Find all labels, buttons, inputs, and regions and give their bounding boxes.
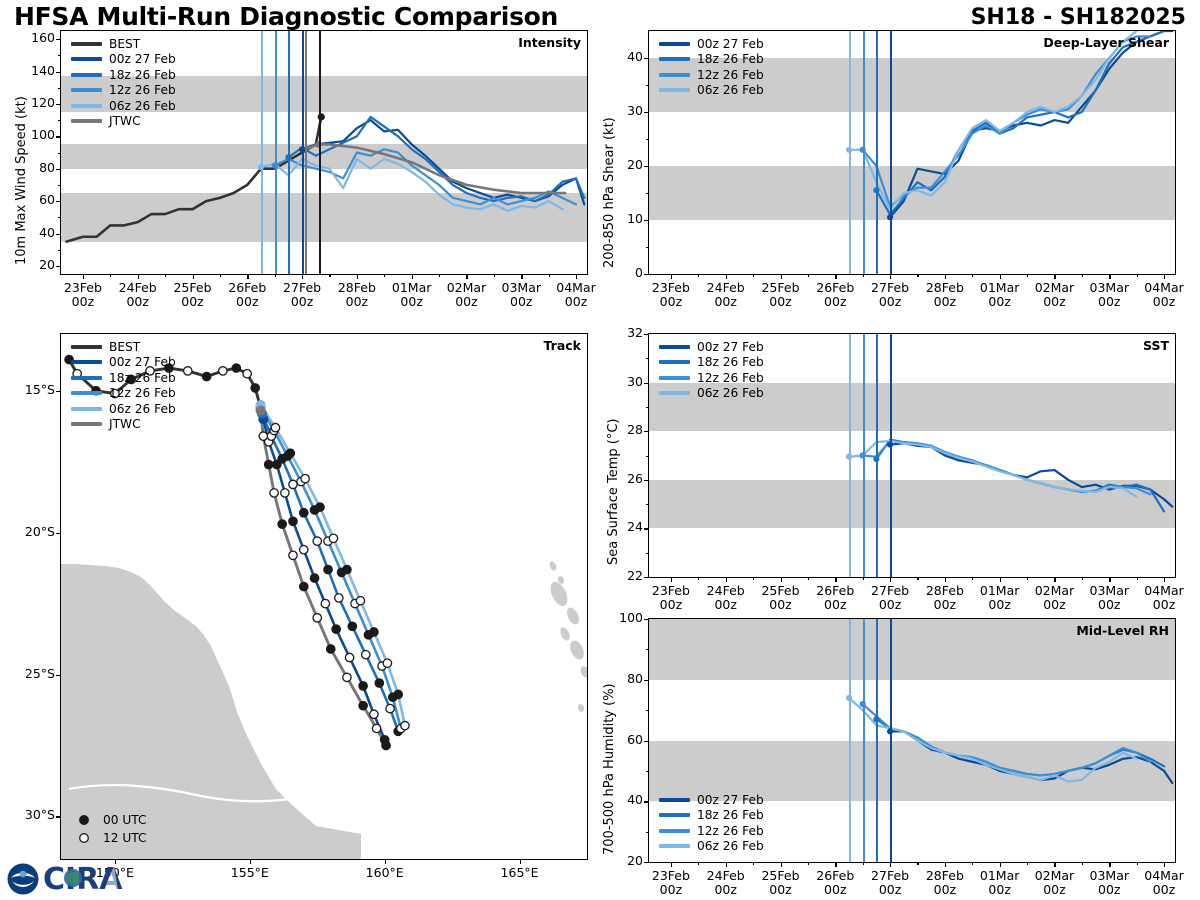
- track-marker-12utc: [184, 367, 192, 375]
- track-marker-00utc: [202, 372, 210, 380]
- track-marker-12utc: [356, 597, 364, 605]
- sst-legend-item: 06z 26 Feb: [659, 386, 764, 402]
- x-minor-tick: [863, 274, 864, 277]
- y-minor-tick: [646, 504, 649, 505]
- y-tick-mark: [56, 72, 61, 73]
- y-tick-label: 30: [603, 103, 643, 118]
- legend-color-swatch: [659, 345, 690, 349]
- sst-panel: SST 00z 27 Feb18z 26 Feb12z 26 Feb06z 26…: [648, 333, 1176, 578]
- x-minor-tick: [917, 577, 918, 580]
- marker-open-icon: [73, 831, 103, 845]
- y-minor-tick: [646, 832, 649, 833]
- y-tick-label: 20: [603, 853, 643, 868]
- track-marker-00utc: [289, 517, 297, 525]
- legend-color-swatch: [659, 376, 690, 380]
- y-minor-tick: [646, 139, 649, 140]
- track-marker-00utc: [278, 520, 286, 528]
- x-minor-tick: [863, 577, 864, 580]
- legend-label: 06z 26 Feb: [109, 402, 176, 416]
- series-line: [288, 117, 584, 201]
- track-marker-12utc: [362, 650, 370, 658]
- y-tick-label: 160: [15, 30, 55, 45]
- track-marker-12utc: [335, 594, 343, 602]
- y-tick-mark: [644, 431, 649, 432]
- init-time-line: [288, 31, 290, 274]
- noaa-logo: [6, 862, 40, 896]
- x-tick-mark: [671, 862, 672, 867]
- legend-label: 06z 26 Feb: [697, 839, 764, 853]
- x-tick-mark: [945, 274, 946, 279]
- x-tick-mark: [835, 274, 836, 279]
- x-tick-mark: [1109, 862, 1110, 867]
- y-tick-mark: [644, 862, 649, 863]
- x-tick-day: 04Mar: [1130, 584, 1198, 598]
- track-marker-00utc: [310, 574, 318, 582]
- y-tick-label: 32: [603, 325, 643, 340]
- x-minor-tick: [808, 577, 809, 580]
- init-time-line: [863, 31, 865, 274]
- track-marker-12utc: [219, 367, 227, 375]
- y-tick-mark: [644, 741, 649, 742]
- x-tick-mark: [247, 274, 248, 279]
- track-marker-00utc: [265, 460, 273, 468]
- x-minor-tick: [698, 577, 699, 580]
- init-time-line: [319, 31, 321, 274]
- track-legend-item: 18z 26 Feb: [71, 370, 176, 386]
- y-tick-mark: [56, 391, 61, 392]
- x-tick-hour: 00z: [1130, 295, 1198, 309]
- legend-label: 00z 27 Feb: [109, 52, 176, 66]
- y-tick-label: 100: [603, 610, 643, 625]
- intensity-legend-item: JTWC: [71, 114, 176, 130]
- y-tick-mark: [644, 383, 649, 384]
- y-tick-mark: [56, 816, 61, 817]
- legend-label: 06z 26 Feb: [109, 99, 176, 113]
- init-time-line: [876, 31, 878, 274]
- x-minor-tick: [329, 274, 330, 277]
- legend-color-swatch: [659, 813, 690, 817]
- x-tick-mark: [1000, 577, 1001, 582]
- legend-label: 18z 26 Feb: [109, 371, 176, 385]
- intensity-legend-item: 12z 26 Feb: [71, 83, 176, 99]
- intensity-legend-item: 00z 27 Feb: [71, 52, 176, 68]
- series-line: [849, 31, 1137, 209]
- series-line: [876, 719, 1164, 775]
- legend-color-swatch: [71, 88, 102, 92]
- legend-label: JTWC: [109, 114, 141, 128]
- intensity-legend-item: 18z 26 Feb: [71, 67, 176, 83]
- track-marker-12utc: [289, 480, 297, 488]
- legend-color-swatch: [71, 42, 102, 46]
- sst-panel-title: SST: [1143, 338, 1169, 353]
- y-minor-tick: [646, 85, 649, 86]
- shear-legend: 00z 27 Feb18z 26 Feb12z 26 Feb06z 26 Feb: [659, 36, 764, 98]
- y-minor-tick: [646, 456, 649, 457]
- track-line: [263, 419, 384, 740]
- y-tick-mark: [56, 533, 61, 534]
- x-tick-mark: [671, 274, 672, 279]
- rh-legend-item: 12z 26 Feb: [659, 823, 764, 839]
- legend-label: 12z 26 Feb: [697, 824, 764, 838]
- legend-label: 18z 26 Feb: [109, 68, 176, 82]
- y-tick-mark: [56, 234, 61, 235]
- x-minor-tick: [917, 274, 918, 277]
- x-tick-mark: [1054, 862, 1055, 867]
- legend-color-swatch: [659, 73, 690, 77]
- x-tick-mark: [671, 577, 672, 582]
- x-minor-tick: [808, 862, 809, 865]
- x-tick-label: 165°E: [486, 866, 554, 880]
- track-marker-00utc: [370, 628, 378, 636]
- legend-label: 12 UTC: [103, 831, 147, 845]
- x-minor-tick: [917, 862, 918, 865]
- track-marker-12utc: [243, 370, 251, 378]
- legend-color-swatch: [659, 798, 690, 802]
- x-tick-label: 04Mar00z: [1130, 869, 1198, 898]
- track-marker-00utc: [394, 690, 402, 698]
- x-tick-mark: [302, 274, 303, 279]
- x-minor-tick: [808, 274, 809, 277]
- x-tick-mark: [357, 274, 358, 279]
- sst-legend-item: 00z 27 Feb: [659, 339, 764, 355]
- legend-color-swatch: [659, 42, 690, 46]
- y-minor-tick: [646, 649, 649, 650]
- y-minor-tick: [58, 88, 61, 89]
- track-marker-12utc: [372, 724, 380, 732]
- x-minor-tick: [110, 274, 111, 277]
- x-tick-mark: [1109, 577, 1110, 582]
- x-tick-mark: [521, 274, 522, 279]
- track-marker-12utc: [401, 721, 409, 729]
- track-marker-00utc: [300, 582, 308, 590]
- y-tick-mark: [644, 112, 649, 113]
- x-tick-mark: [83, 274, 84, 279]
- page-title: HFSA Multi-Run Diagnostic Comparison: [14, 2, 558, 31]
- init-time-line: [849, 334, 851, 577]
- y-minor-tick: [58, 185, 61, 186]
- track-legend-item: 06z 26 Feb: [71, 401, 176, 417]
- track-marker-00utc: [286, 449, 294, 457]
- track-marker-12utc: [259, 432, 267, 440]
- x-tick-mark: [1054, 577, 1055, 582]
- shear-y-label: 200-850 hPa Shear (kt): [602, 117, 617, 268]
- track-legend: BEST00z 27 Feb18z 26 Feb12z 26 Feb06z 26…: [71, 339, 176, 432]
- rh-y-label: 700-500 hPa Humidity (%): [602, 683, 617, 855]
- x-minor-tick: [972, 577, 973, 580]
- x-tick-mark: [576, 274, 577, 279]
- y-tick-label: 40: [603, 49, 643, 64]
- track-marker-00utc: [359, 702, 367, 710]
- x-tick-mark: [1109, 274, 1110, 279]
- track-marker-00utc: [382, 741, 390, 749]
- intensity-legend-item: 06z 26 Feb: [71, 98, 176, 114]
- legend-label: 12z 26 Feb: [109, 83, 176, 97]
- legend-label: 06z 26 Feb: [697, 386, 764, 400]
- x-tick-mark: [520, 859, 521, 864]
- y-minor-tick: [646, 407, 649, 408]
- y-minor-tick: [646, 771, 649, 772]
- track-init-marker-jtwc: [256, 406, 266, 416]
- y-tick-mark: [56, 136, 61, 137]
- legend-color-swatch: [71, 73, 102, 77]
- legend-color-swatch: [71, 376, 102, 380]
- y-tick-label: 25°S: [5, 666, 55, 681]
- rh-legend-item: 00z 27 Feb: [659, 792, 764, 808]
- legend-color-swatch: [659, 829, 690, 833]
- cira-logo: CIRA: [42, 860, 136, 898]
- x-tick-mark: [835, 862, 836, 867]
- track-marker-12utc: [271, 423, 279, 431]
- x-tick-mark: [890, 862, 891, 867]
- track-marker-12utc: [329, 534, 337, 542]
- y-tick-mark: [644, 334, 649, 335]
- series-line: [890, 443, 1172, 506]
- track-marker-12utc: [313, 614, 321, 622]
- intensity-panel: Intensity BEST00z 27 Feb18z 26 Feb12z 26…: [60, 30, 588, 275]
- rh-panel: Mid-Level RH 00z 27 Feb18z 26 Feb12z 26 …: [648, 618, 1176, 863]
- sst-legend-item: 18z 26 Feb: [659, 355, 764, 371]
- y-minor-tick: [646, 710, 649, 711]
- intensity-legend: BEST00z 27 Feb18z 26 Feb12z 26 Feb06z 26…: [71, 36, 176, 129]
- x-tick-hour: 00z: [1130, 883, 1198, 897]
- track-marker-00utc: [375, 679, 383, 687]
- x-tick-mark: [1164, 862, 1165, 867]
- x-tick-mark: [726, 862, 727, 867]
- legend-label: 06z 26 Feb: [697, 83, 764, 97]
- y-tick-mark: [56, 169, 61, 170]
- track-panel-title: Track: [544, 338, 581, 353]
- y-tick-label: 140: [15, 63, 55, 78]
- x-tick-label: 04Mar00z: [1130, 281, 1198, 310]
- x-tick-mark: [1164, 577, 1165, 582]
- y-tick-mark: [56, 675, 61, 676]
- x-tick-hour: 00z: [542, 295, 610, 309]
- legend-label: JTWC: [109, 417, 141, 431]
- track-marker-12utc: [270, 489, 278, 497]
- track-panel: Track BEST00z 27 Feb18z 26 Feb12z 26 Feb…: [60, 333, 588, 860]
- x-tick-label: 160°E: [351, 866, 419, 880]
- x-minor-tick: [1082, 274, 1083, 277]
- x-tick-mark: [250, 859, 251, 864]
- legend-color-swatch: [71, 407, 102, 411]
- x-tick-mark: [385, 859, 386, 864]
- track-marker-12utc: [343, 673, 351, 681]
- x-tick-label: 04Mar00z: [1130, 584, 1198, 613]
- init-time-line: [849, 31, 851, 274]
- legend-label: BEST: [109, 340, 140, 354]
- x-minor-tick: [384, 274, 385, 277]
- y-tick-mark: [644, 680, 649, 681]
- legend-label: 00z 27 Feb: [109, 355, 176, 369]
- x-tick-mark: [781, 577, 782, 582]
- rh-panel-title: Mid-Level RH: [1076, 623, 1169, 638]
- y-tick-mark: [644, 58, 649, 59]
- legend-label: 00z 27 Feb: [697, 793, 764, 807]
- track-marker-legend-item: 00 UTC: [73, 811, 147, 829]
- y-minor-tick: [58, 217, 61, 218]
- track-marker-00utc: [251, 384, 259, 392]
- y-tick-label: 30: [603, 374, 643, 389]
- track-marker-12utc: [345, 653, 353, 661]
- x-minor-tick: [275, 274, 276, 277]
- y-minor-tick: [58, 55, 61, 56]
- y-minor-tick: [58, 250, 61, 251]
- rh-legend-item: 06z 26 Feb: [659, 839, 764, 855]
- x-tick-mark: [1000, 862, 1001, 867]
- shear-panel: Deep-Layer Shear 00z 27 Feb18z 26 Feb12z…: [648, 30, 1176, 275]
- track-legend-item: BEST: [71, 339, 176, 355]
- x-minor-tick: [220, 274, 221, 277]
- series-line: [66, 117, 321, 242]
- init-time-line: [863, 619, 865, 862]
- legend-label: 18z 26 Feb: [697, 52, 764, 66]
- x-tick-mark: [412, 274, 413, 279]
- track-marker-00utc: [359, 682, 367, 690]
- legend-color-swatch: [71, 360, 102, 364]
- x-tick-mark: [726, 274, 727, 279]
- init-time-line: [890, 31, 892, 274]
- y-tick-label: 22: [603, 568, 643, 583]
- track-marker-00utc: [327, 645, 335, 653]
- x-minor-tick: [1027, 862, 1028, 865]
- x-tick-mark: [835, 577, 836, 582]
- x-minor-tick: [863, 862, 864, 865]
- shear-panel-title: Deep-Layer Shear: [1043, 35, 1169, 50]
- x-tick-mark: [781, 274, 782, 279]
- shear-legend-item: 18z 26 Feb: [659, 52, 764, 68]
- x-minor-tick: [972, 274, 973, 277]
- x-tick-day: 04Mar: [542, 281, 610, 295]
- x-tick-mark: [1000, 274, 1001, 279]
- legend-label: 12z 26 Feb: [697, 371, 764, 385]
- legend-color-swatch: [659, 88, 690, 92]
- x-minor-tick: [753, 274, 754, 277]
- y-tick-mark: [56, 266, 61, 267]
- intensity-legend-item: BEST: [71, 36, 176, 52]
- track-marker-00utc: [324, 565, 332, 573]
- legend-color-swatch: [659, 360, 690, 364]
- x-tick-mark: [193, 274, 194, 279]
- track-legend-item: 00z 27 Feb: [71, 355, 176, 371]
- track-marker-12utc: [321, 599, 329, 607]
- init-time-line: [876, 619, 878, 862]
- track-marker-00utc: [343, 565, 351, 573]
- x-tick-mark: [781, 862, 782, 867]
- x-tick-hour: 00z: [1130, 598, 1198, 612]
- x-minor-tick: [698, 274, 699, 277]
- x-tick-label: 04Mar00z: [542, 281, 610, 310]
- y-tick-mark: [56, 39, 61, 40]
- track-marker-legend: 00 UTC12 UTC: [73, 811, 147, 847]
- legend-label: 18z 26 Feb: [697, 355, 764, 369]
- x-minor-tick: [1027, 577, 1028, 580]
- y-minor-tick: [58, 120, 61, 121]
- legend-color-swatch: [71, 391, 102, 395]
- x-tick-mark: [466, 274, 467, 279]
- legend-label: 18z 26 Feb: [697, 808, 764, 822]
- legend-label: 00z 27 Feb: [697, 37, 764, 51]
- x-minor-tick: [165, 274, 166, 277]
- track-marker-12utc: [300, 545, 308, 553]
- legend-color-swatch: [659, 57, 690, 61]
- x-tick-mark: [1054, 274, 1055, 279]
- track-legend-item: 12z 26 Feb: [71, 386, 176, 402]
- x-tick-mark: [945, 577, 946, 582]
- track-marker-12utc: [386, 704, 394, 712]
- legend-label: BEST: [109, 37, 140, 51]
- x-minor-tick: [1137, 274, 1138, 277]
- x-minor-tick: [1027, 274, 1028, 277]
- x-minor-tick: [1082, 862, 1083, 865]
- x-minor-tick: [1082, 577, 1083, 580]
- legend-label: 12z 26 Feb: [697, 68, 764, 82]
- x-minor-tick: [494, 274, 495, 277]
- intensity-panel-title: Intensity: [518, 35, 581, 50]
- series-line: [849, 441, 1137, 497]
- legend-color-swatch: [71, 57, 102, 61]
- rh-legend-item: 18z 26 Feb: [659, 808, 764, 824]
- track-marker-00utc: [232, 364, 240, 372]
- y-tick-mark: [644, 619, 649, 620]
- x-minor-tick: [972, 862, 973, 865]
- track-marker-12utc: [313, 537, 321, 545]
- legend-color-swatch: [71, 104, 102, 108]
- x-tick-mark: [726, 577, 727, 582]
- y-minor-tick: [646, 358, 649, 359]
- track-legend-item: JTWC: [71, 417, 176, 433]
- track-marker-12utc: [281, 489, 289, 497]
- init-time-line: [863, 334, 865, 577]
- x-minor-tick: [439, 274, 440, 277]
- shear-legend-item: 12z 26 Feb: [659, 67, 764, 83]
- x-minor-tick: [1137, 862, 1138, 865]
- sst-legend-item: 12z 26 Feb: [659, 370, 764, 386]
- shear-legend-item: 06z 26 Feb: [659, 83, 764, 99]
- track-marker-12utc: [383, 659, 391, 667]
- y-tick-mark: [56, 104, 61, 105]
- y-minor-tick: [646, 553, 649, 554]
- x-minor-tick: [753, 862, 754, 865]
- y-tick-mark: [644, 274, 649, 275]
- y-tick-mark: [644, 577, 649, 578]
- init-time-line: [890, 619, 892, 862]
- legend-color-swatch: [659, 844, 690, 848]
- y-minor-tick: [58, 153, 61, 154]
- y-tick-label: 15°S: [5, 382, 55, 397]
- init-time-line: [305, 31, 307, 274]
- series-line: [863, 441, 1151, 494]
- marker-filled-icon: [73, 813, 103, 827]
- track-marker-00utc: [316, 503, 324, 511]
- y-tick-mark: [56, 201, 61, 202]
- track-marker-12utc: [301, 475, 309, 483]
- legend-color-swatch: [659, 391, 690, 395]
- x-tick-mark: [945, 862, 946, 867]
- legend-color-swatch: [71, 422, 102, 426]
- track-line: [261, 405, 405, 726]
- rh-legend: 00z 27 Feb18z 26 Feb12z 26 Feb06z 26 Feb: [659, 792, 764, 854]
- y-tick-mark: [644, 166, 649, 167]
- x-minor-tick: [549, 274, 550, 277]
- y-tick-mark: [644, 801, 649, 802]
- y-minor-tick: [646, 193, 649, 194]
- init-time-line: [890, 334, 892, 577]
- x-tick-mark: [138, 274, 139, 279]
- x-tick-mark: [890, 577, 891, 582]
- track-marker-00utc: [332, 625, 340, 633]
- legend-label: 00z 27 Feb: [697, 340, 764, 354]
- x-minor-tick: [698, 862, 699, 865]
